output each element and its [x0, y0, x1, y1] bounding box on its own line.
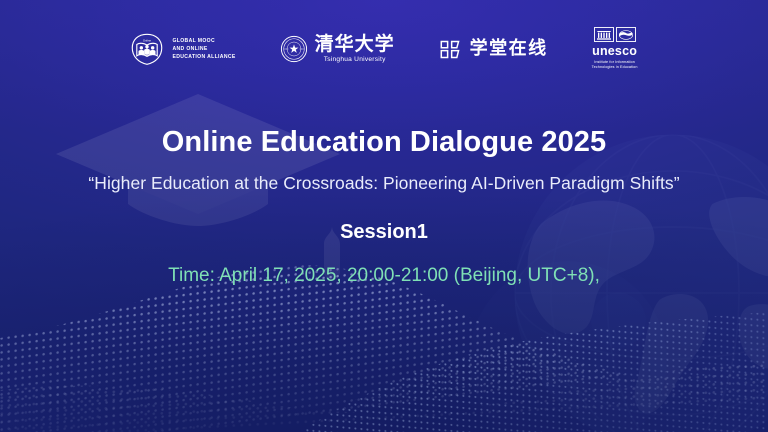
presentation-slide: Online GLOBAL MOOC AND ONLINE EDUCATION …	[0, 0, 768, 432]
unesco-sub-line-2: Technologies in Education	[592, 65, 638, 71]
gmooc-line-1: GLOBAL MOOC	[172, 37, 235, 45]
tsinghua-english-name: Tsinghua University	[324, 57, 386, 64]
unesco-emblem	[594, 27, 636, 42]
svg-text:Online: Online	[143, 39, 152, 43]
unesco-globe-icon	[616, 27, 636, 42]
xuetangx-chinese-name: 学堂在线	[470, 40, 548, 58]
tsinghua-chinese-name: 清华大学	[315, 35, 395, 54]
logo-tsinghua-university: 清华大学 Tsinghua University	[280, 35, 395, 64]
slide-subtitle: “Higher Education at the Crossroads: Pio…	[0, 173, 768, 194]
xuetangx-mark-icon	[439, 38, 462, 61]
gmooc-crest-icon: Online	[130, 32, 164, 66]
gmooc-line-3: EDUCATION ALLIANCE	[172, 53, 235, 61]
unesco-wordmark: unesco	[592, 45, 637, 58]
logo-global-mooc-alliance: Online GLOBAL MOOC AND ONLINE EDUCATION …	[130, 32, 235, 66]
gmooc-line-2: AND ONLINE	[172, 45, 235, 53]
gmooc-wordmark: GLOBAL MOOC AND ONLINE EDUCATION ALLIANC…	[172, 37, 235, 62]
unesco-institute-subtitle: Institute for Information Technologies i…	[592, 60, 638, 71]
partner-logo-bar: Online GLOBAL MOOC AND ONLINE EDUCATION …	[0, 26, 768, 72]
logo-xuetangx: 学堂在线	[439, 38, 548, 61]
page-title: Online Education Dialogue 2025	[0, 126, 768, 159]
session-label: Session1	[0, 220, 768, 244]
session-time: Time: April 17, 2025, 20:00-21:00 (Beiji…	[0, 265, 768, 288]
slide-content: Online Education Dialogue 2025 “Higher E…	[0, 126, 768, 288]
tsinghua-seal-icon	[280, 35, 308, 63]
unesco-temple-icon	[594, 27, 614, 42]
logo-unesco-iite: unesco Institute for Information Technol…	[592, 27, 638, 71]
